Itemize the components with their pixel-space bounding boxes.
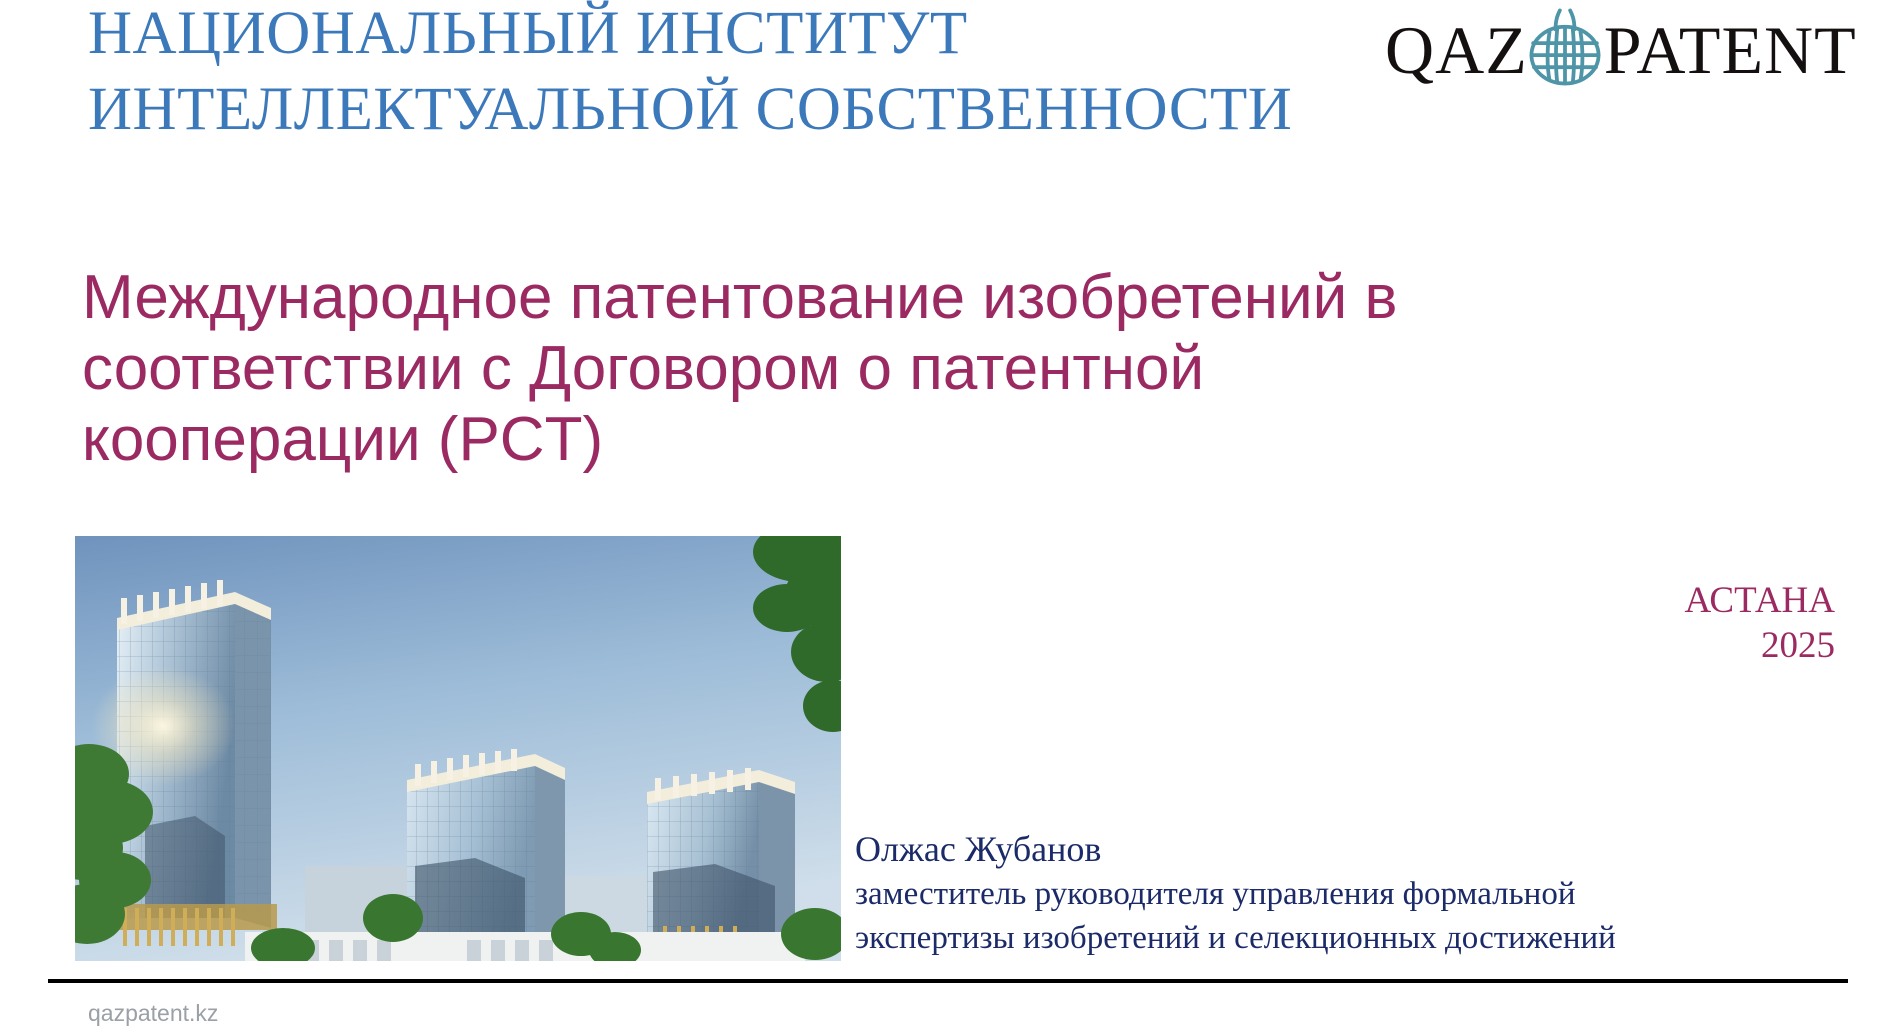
footer-divider (48, 979, 1848, 983)
place-label: АСТАНА (1415, 578, 1835, 623)
presentation-title-slide: НАЦИОНАЛЬНЫЙ ИНСТИТУТ ИНТЕЛЛЕКТУАЛЬНОЙ С… (0, 0, 1891, 1032)
place-and-year: АСТАНА 2025 (1415, 578, 1835, 668)
organization-name: НАЦИОНАЛЬНЫЙ ИНСТИТУТ ИНТЕЛЛЕКТУАЛЬНОЙ С… (88, 0, 1378, 148)
organization-name-line-1: НАЦИОНАЛЬНЫЙ ИНСТИТУТ (88, 0, 1378, 72)
footer-website: qazpatent.kz (88, 999, 218, 1027)
year-label: 2025 (1415, 623, 1835, 668)
logo-word-patent: PATENT (1604, 15, 1857, 85)
qazpatent-logo: QAZ PATENT (1385, 4, 1857, 96)
slide-header: НАЦИОНАЛЬНЫЙ ИНСТИТУТ ИНТЕЛЛЕКТУАЛЬНОЙ С… (0, 0, 1891, 175)
presenter-name: Олжас Жубанов (855, 826, 1835, 872)
presenter-role-line-1: заместитель руководителя управления форм… (855, 872, 1835, 916)
presenter-block: Олжас Жубанов заместитель руководителя у… (855, 826, 1835, 960)
presenter-role-line-2: экспертизы изобретений и селекционных до… (855, 916, 1835, 960)
logo-word-qaz: QAZ (1385, 15, 1528, 85)
presenter-role: заместитель руководителя управления форм… (855, 872, 1835, 960)
organization-name-line-2: ИНТЕЛЛЕКТУАЛЬНОЙ СОБСТВЕННОСТИ (88, 72, 1378, 148)
building-photo (75, 536, 841, 961)
building-photo-illustration (75, 536, 841, 961)
shanyrak-globe-icon (1522, 7, 1608, 93)
page-title: Международное патентование изобретений в… (82, 262, 1512, 475)
